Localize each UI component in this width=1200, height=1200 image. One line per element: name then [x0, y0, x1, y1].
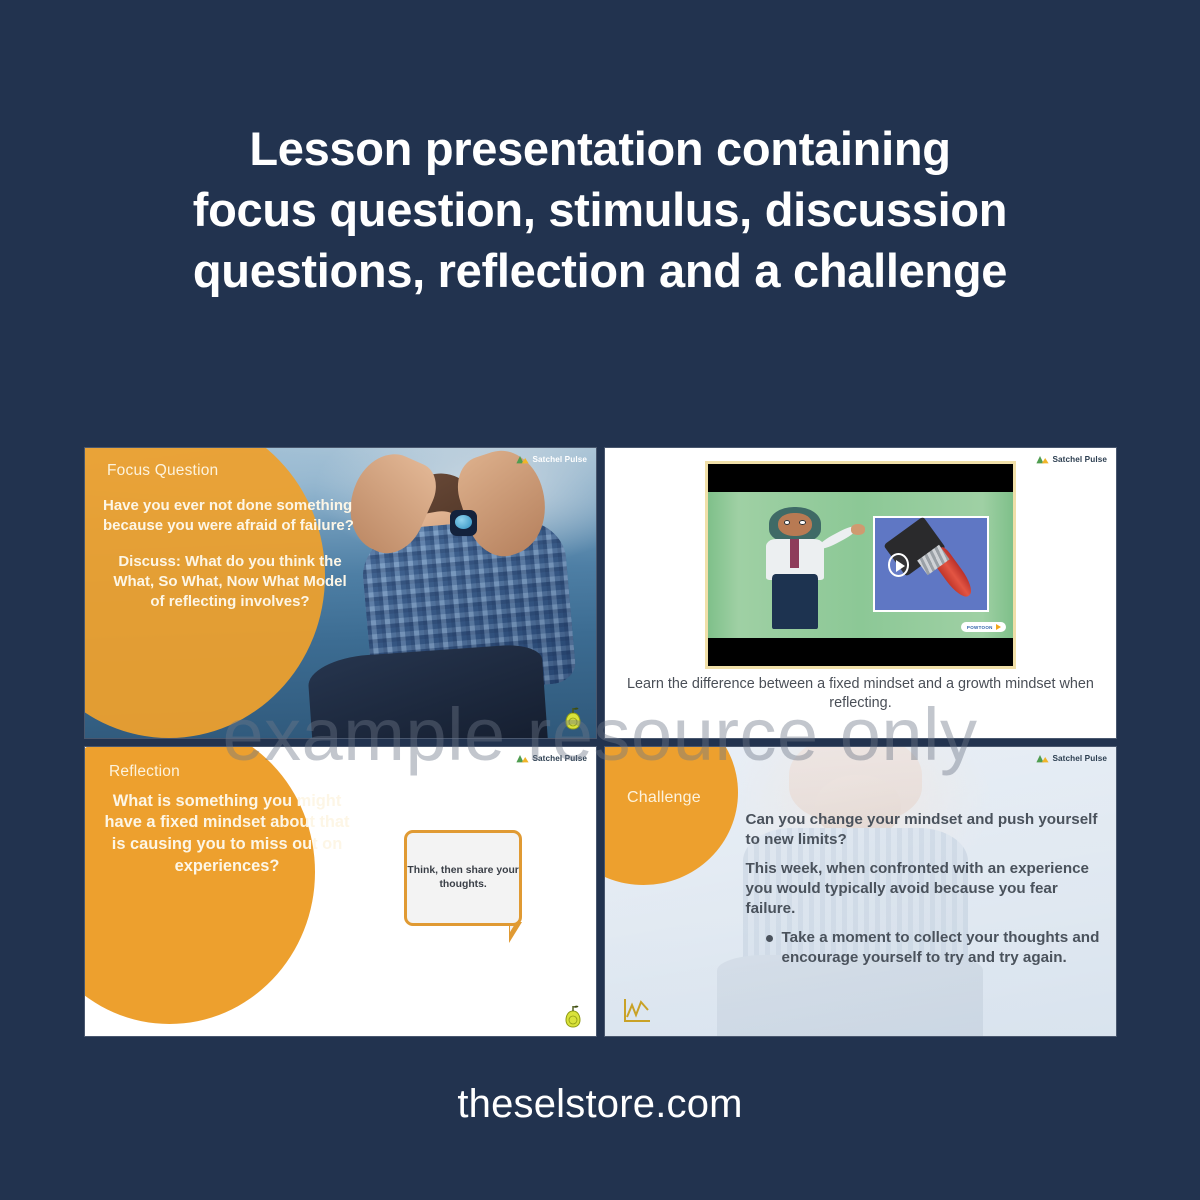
page-title-line-2: focus question, stimulus, discussion — [110, 179, 1090, 240]
focus-question-text: Have you ever not done something because… — [103, 496, 357, 536]
photo-figure-legs — [306, 643, 548, 738]
challenge-bullet-item: Take a moment to collect your thoughts a… — [766, 928, 1104, 967]
satchel-pulse-brand: Satchel Pulse — [1036, 754, 1107, 763]
reflection-label: Reflection — [109, 763, 180, 781]
focus-question-discuss-text: Discuss: What do you think the What, So … — [103, 552, 357, 612]
satchel-pulse-brand-text: Satchel Pulse — [1052, 455, 1107, 464]
reflection-orange-circle — [85, 747, 315, 1025]
powtoon-badge-text: POWTOON — [967, 625, 993, 630]
pear-icon — [564, 1004, 582, 1028]
presenter-skirt — [772, 574, 818, 629]
mountain-triangles-icon — [516, 754, 529, 763]
reflection-question: What is something you might have a fixed… — [97, 791, 357, 879]
pear-icon — [564, 706, 582, 730]
page-title-line-1: Lesson presentation containing — [110, 118, 1090, 179]
presenter-right-eye — [799, 520, 805, 525]
line-chart-icon — [621, 996, 653, 1026]
presenter-scarf — [790, 539, 799, 568]
mountain-triangles-icon — [1036, 455, 1049, 464]
presenter-hand — [851, 524, 865, 534]
slide-video-stimulus[interactable]: POWTOON Learn the difference between a f… — [605, 448, 1116, 738]
page-title-line-3: questions, reflection and a challenge — [110, 240, 1090, 301]
speech-bubble-text: Think, then share your thoughts. — [407, 864, 519, 891]
challenge-body: Can you change your mindset and push you… — [746, 810, 1104, 967]
photo-figure-watch — [450, 510, 477, 536]
video-paintbrush-panel — [873, 516, 989, 612]
challenge-bullet-text: Take a moment to collect your thoughts a… — [782, 928, 1104, 967]
video-still-image: POWTOON — [708, 492, 1014, 638]
slide-focus-question[interactable]: Focus Question Have you ever not done so… — [85, 448, 596, 738]
video-caption: Learn the difference between a fixed min… — [615, 675, 1106, 712]
powtoon-arrow-icon — [996, 624, 1001, 630]
satchel-pulse-brand-text: Satchel Pulse — [1052, 754, 1107, 763]
powtoon-badge: POWTOON — [961, 622, 1006, 632]
page-title: Lesson presentation containing focus que… — [0, 118, 1200, 301]
bullet-dot-icon — [766, 935, 773, 942]
satchel-pulse-brand: Satchel Pulse — [516, 455, 587, 464]
focus-question-label: Focus Question — [107, 462, 218, 480]
video-player-frame[interactable]: POWTOON — [705, 461, 1017, 669]
slide-challenge[interactable]: Challenge Can you change your mindset an… — [605, 747, 1116, 1037]
speech-bubble: Think, then share your thoughts. — [404, 830, 522, 926]
slide-preview-grid: Focus Question Have you ever not done so… — [85, 448, 1116, 1036]
satchel-pulse-brand-text: Satchel Pulse — [532, 455, 587, 464]
satchel-pulse-brand-text: Satchel Pulse — [532, 754, 587, 763]
satchel-pulse-brand: Satchel Pulse — [516, 754, 587, 763]
play-button-icon[interactable] — [888, 553, 909, 577]
challenge-task: This week, when confronted with an exper… — [746, 859, 1104, 918]
footer-site-url: theselstore.com — [0, 1082, 1200, 1127]
presenter-face — [778, 513, 812, 536]
mountain-triangles-icon — [1036, 754, 1049, 763]
satchel-pulse-brand: Satchel Pulse — [1036, 455, 1107, 464]
slide-reflection[interactable]: Reflection What is something you might h… — [85, 747, 596, 1037]
challenge-label: Challenge — [627, 789, 701, 807]
focus-question-body: Have you ever not done something because… — [103, 496, 357, 612]
mountain-triangles-icon — [516, 455, 529, 464]
challenge-question: Can you change your mindset and push you… — [746, 810, 1104, 849]
